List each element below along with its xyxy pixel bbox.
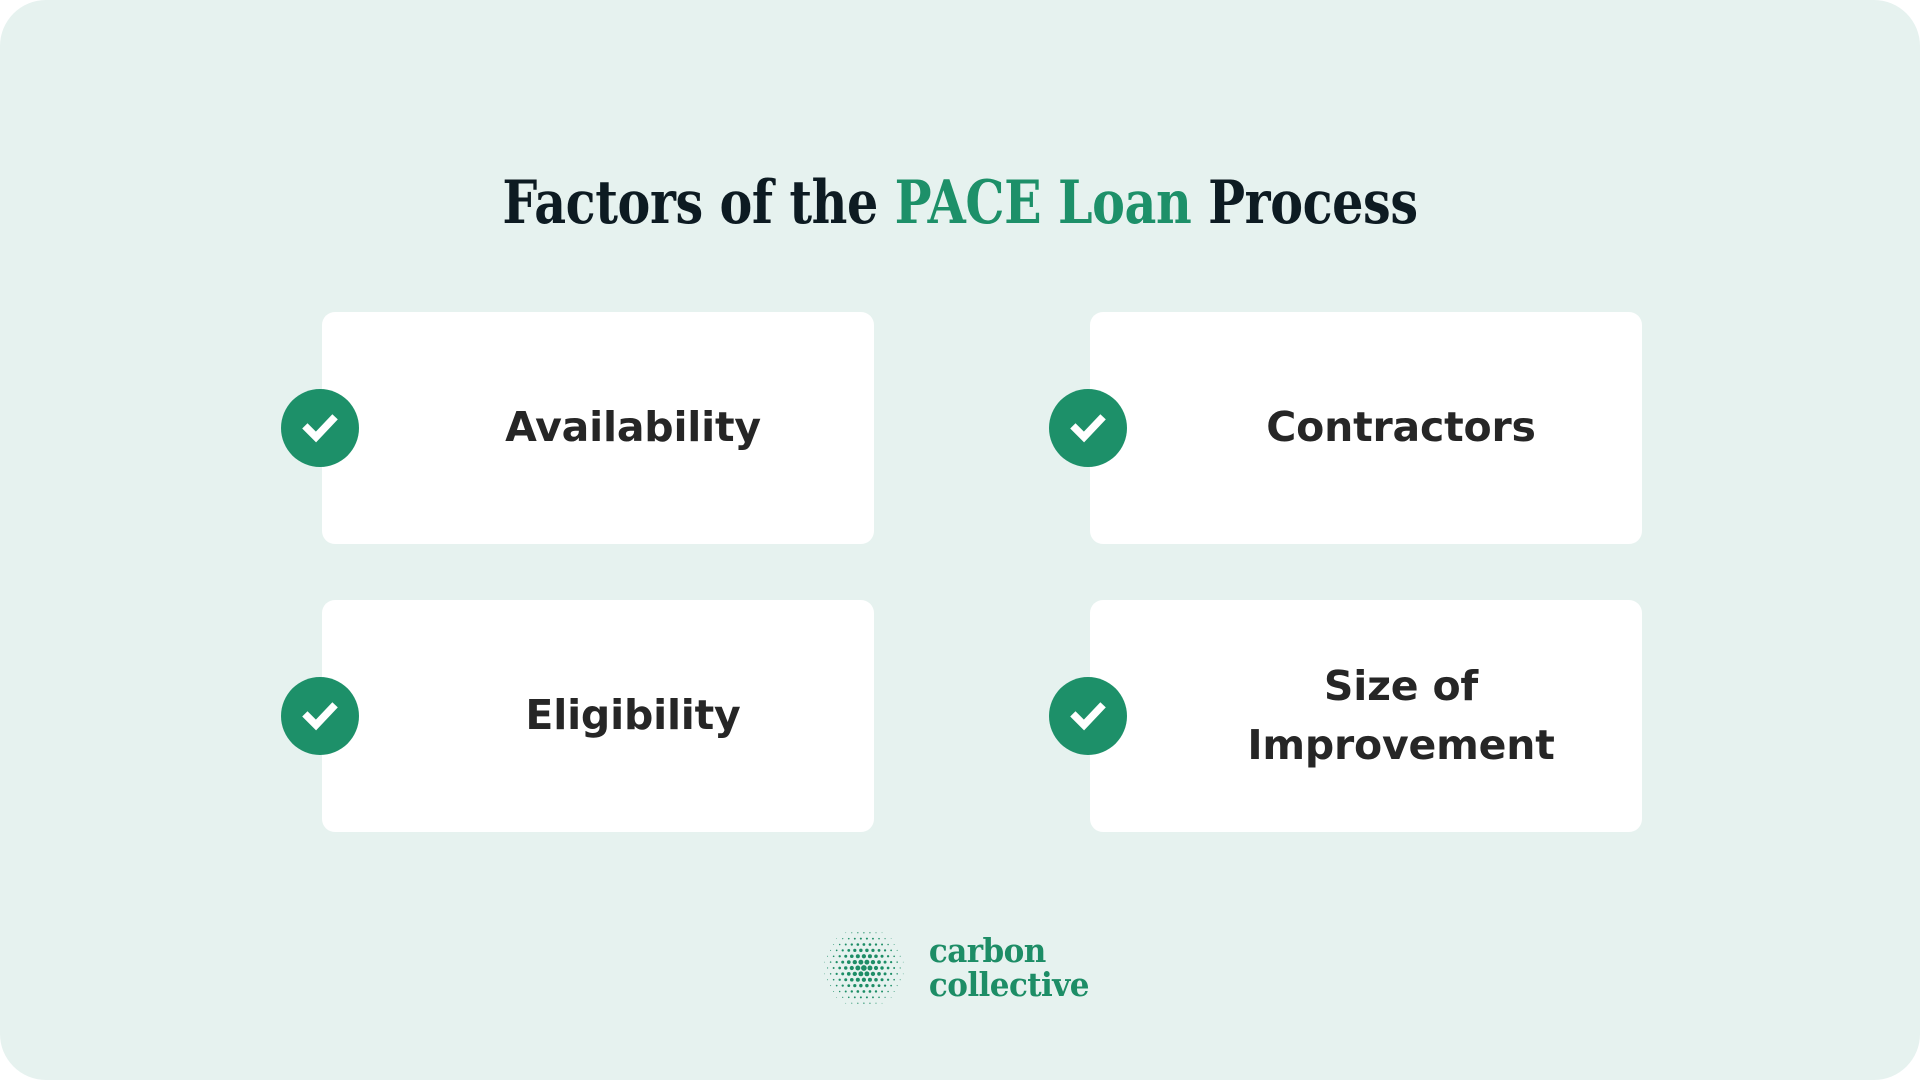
card-label: Eligibility [525,686,740,745]
factor-card-contractors[interactable]: Contractors [1090,312,1642,544]
factor-card-availability[interactable]: Availability [322,312,874,544]
check-circle-icon [281,389,359,467]
card-body: Contractors [1090,312,1642,544]
factor-card-size-of-improvement[interactable]: Size of Improvement [1090,600,1642,832]
page-title: Factors of the PACE Loan Process [173,168,1747,238]
card-body: Availability [322,312,874,544]
brand-wordmark-line-1: carbon [929,934,1089,968]
card-body: Size of Improvement [1090,600,1642,832]
card-body: Eligibility [322,600,874,832]
card-label-line-1: Size of [1324,662,1478,710]
card-label-line-2: Improvement [1247,721,1554,769]
check-circle-icon [281,677,359,755]
title-part-2: Process [1191,168,1417,238]
factor-card-grid: Availability Contractors Eligibility [322,312,1642,832]
title-part-1: Factors of the [502,168,894,238]
check-circle-icon [1049,677,1127,755]
halftone-dot-circle-logo [821,925,907,1011]
brand-wordmark-line-2: collective [929,968,1089,1002]
infographic-frame: Factors of the PACE Loan Process Availab… [0,0,1920,1080]
brand-logo: carbon collective [821,925,1099,1011]
factor-card-eligibility[interactable]: Eligibility [322,600,874,832]
card-label: Contractors [1266,398,1535,457]
card-label: Size of Improvement [1247,657,1554,776]
card-label: Availability [505,398,761,457]
brand-wordmark: carbon collective [929,934,1089,1002]
check-circle-icon [1049,389,1127,467]
title-accent: PACE Loan [895,168,1192,238]
